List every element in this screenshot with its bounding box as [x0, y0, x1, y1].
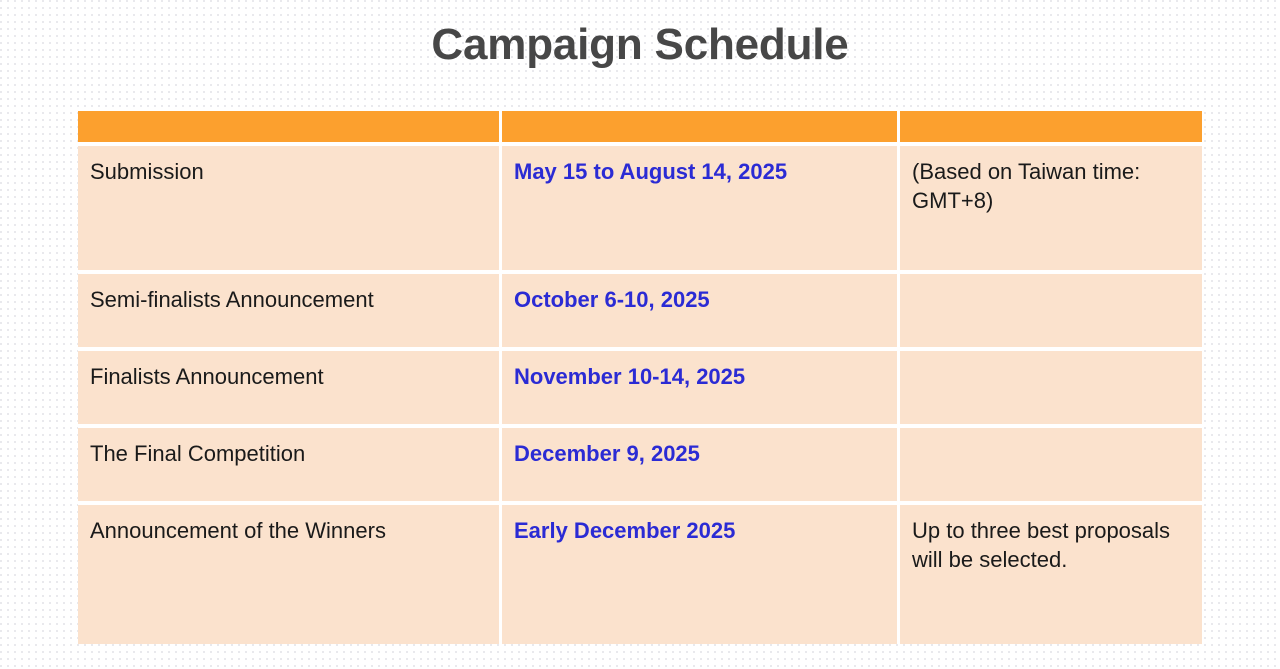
cell-milestone: Announcement of the Winners	[78, 505, 502, 644]
table-row: The Final Competition December 9, 2025	[78, 428, 1202, 505]
table-header-cell-date	[502, 111, 900, 142]
cell-note: (Based on Taiwan time: GMT+8)	[900, 146, 1202, 274]
campaign-schedule-table: Submission May 15 to August 14, 2025 (Ba…	[78, 111, 1202, 644]
table-row: Semi-finalists Announcement October 6-10…	[78, 274, 1202, 351]
table-row: Announcement of the Winners Early Decemb…	[78, 505, 1202, 644]
cell-note	[900, 428, 1202, 505]
cell-date: May 15 to August 14, 2025	[502, 146, 900, 274]
slide-canvas: Campaign Schedule Submission May 15 to A…	[0, 0, 1280, 669]
cell-date: Early December 2025	[502, 505, 900, 644]
table-row: Finalists Announcement November 10-14, 2…	[78, 351, 1202, 428]
table-body: Submission May 15 to August 14, 2025 (Ba…	[78, 146, 1202, 644]
cell-date: December 9, 2025	[502, 428, 900, 505]
cell-milestone: The Final Competition	[78, 428, 502, 505]
cell-note	[900, 274, 1202, 351]
cell-note	[900, 351, 1202, 428]
table-header-cell-milestone	[78, 111, 502, 142]
table-header-row	[78, 111, 1202, 142]
cell-milestone: Finalists Announcement	[78, 351, 502, 428]
table-header-cell-note	[900, 111, 1202, 142]
table-row: Submission May 15 to August 14, 2025 (Ba…	[78, 146, 1202, 274]
cell-milestone: Submission	[78, 146, 502, 274]
cell-milestone: Semi-finalists Announcement	[78, 274, 502, 351]
cell-date: November 10-14, 2025	[502, 351, 900, 428]
cell-note: Up to three best proposals will be selec…	[900, 505, 1202, 644]
cell-date: October 6-10, 2025	[502, 274, 900, 351]
page-title: Campaign Schedule	[0, 18, 1280, 72]
